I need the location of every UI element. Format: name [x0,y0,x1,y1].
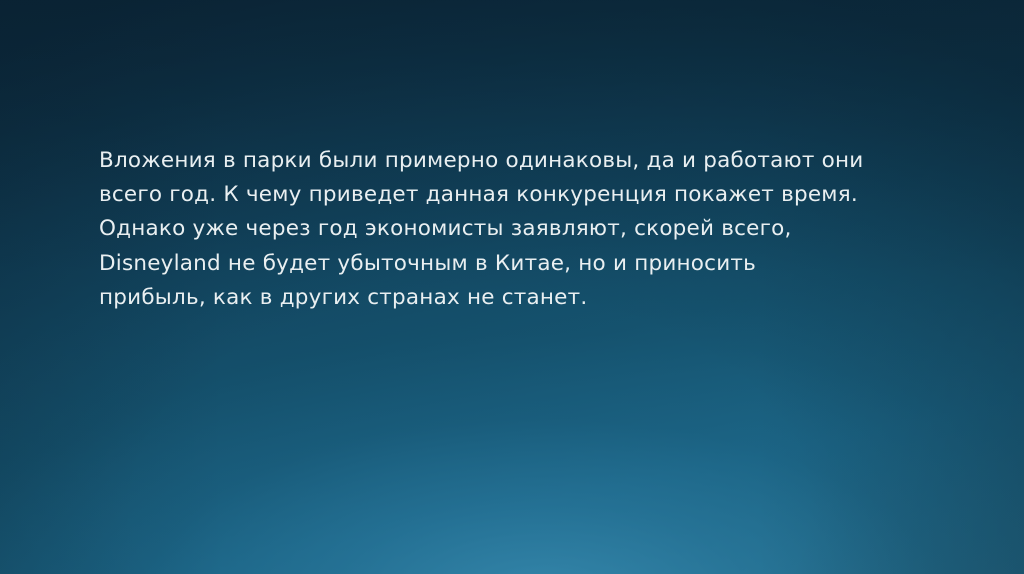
slide-body-text: Вложения в парки были примерно одинаковы… [99,144,955,315]
slide-canvas: Вложения в парки были примерно одинаковы… [0,0,1024,574]
